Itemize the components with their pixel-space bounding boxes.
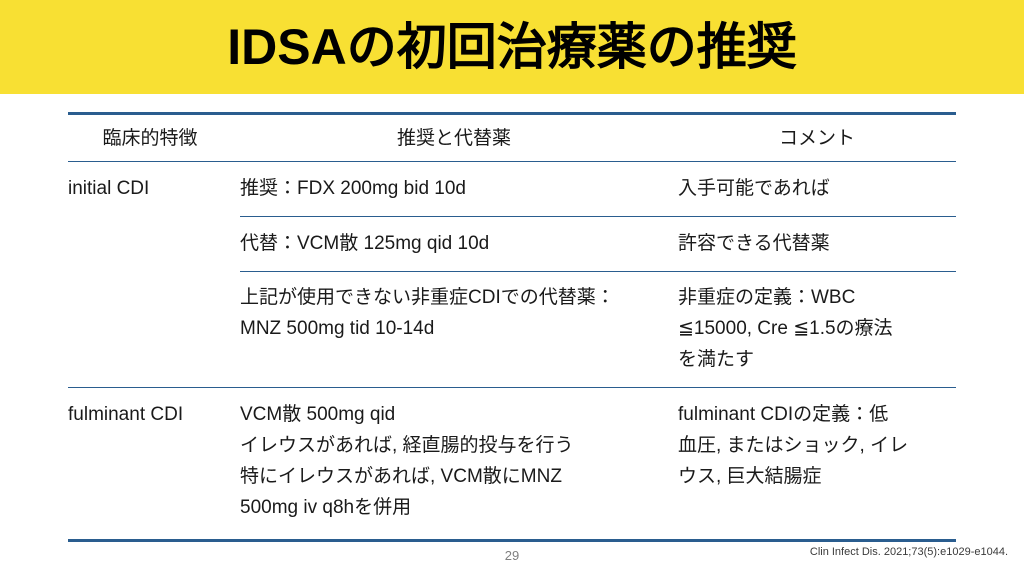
- comment-line: 血圧, またはショック, イレ: [678, 430, 956, 461]
- cell-clinical-feature: fulminant CDI: [68, 388, 240, 446]
- page-title: IDSAの初回治療薬の推奨: [0, 8, 1024, 86]
- comment-line: 許容できる代替薬: [678, 228, 956, 259]
- comment-line: ≦15000, Cre ≦1.5の療法: [678, 313, 956, 344]
- citation-reference: Clin Infect Dis. 2021;73(5):e1029-e1044.: [810, 546, 1008, 558]
- recommendation-line: 500mg iv q8hを併用: [240, 492, 668, 523]
- cell-recommendation: 上記が使用できない非重症CDIでの代替薬： MNZ 500mg tid 10-1…: [240, 272, 678, 356]
- table-bottom-rule: [68, 539, 956, 542]
- recommendation-table: 臨床的特徴 推奨と代替薬 コメント initial CDI 推奨：FDX 200…: [68, 112, 956, 542]
- column-header-clinical-feature: 臨床的特徴: [68, 115, 240, 161]
- table-header-row: 臨床的特徴 推奨と代替薬 コメント: [68, 115, 956, 161]
- cell-comment: fulminant CDIの定義：低 血圧, またはショック, イレ ウス, 巨…: [678, 388, 956, 508]
- cell-recommendation: VCM散 500mg qid イレウスがあれば, 経直腸的投与を行う 特にイレウ…: [240, 388, 678, 539]
- comment-line: を満たす: [678, 344, 956, 375]
- recommendation-line: イレウスがあれば, 経直腸的投与を行う: [240, 430, 668, 461]
- cell-clinical-feature: initial CDI: [68, 162, 240, 216]
- cell-comment: 非重症の定義：WBC ≦15000, Cre ≦1.5の療法 を満たす: [678, 272, 956, 387]
- table-row: initial CDI 推奨：FDX 200mg bid 10d 入手可能であれ…: [68, 162, 956, 216]
- cell-clinical-feature: [68, 272, 240, 294]
- cell-recommendation: 推奨：FDX 200mg bid 10d: [240, 162, 678, 216]
- cell-recommendation: 代替：VCM散 125mg qid 10d: [240, 217, 678, 271]
- recommendation-line: MNZ 500mg tid 10-14d: [240, 313, 668, 344]
- recommendation-line: 特にイレウスがあれば, VCM散にMNZ: [240, 461, 668, 492]
- recommendation-line: VCM散 500mg qid: [240, 399, 668, 430]
- recommendation-line: 代替：VCM散 125mg qid 10d: [240, 228, 668, 259]
- cell-clinical-feature: [68, 217, 240, 240]
- comment-line: 非重症の定義：WBC: [678, 282, 956, 313]
- table-row: 上記が使用できない非重症CDIでの代替薬： MNZ 500mg tid 10-1…: [68, 272, 956, 387]
- column-header-comment: コメント: [678, 115, 956, 161]
- cell-comment: 入手可能であれば: [678, 162, 956, 216]
- recommendation-line: 推奨：FDX 200mg bid 10d: [240, 173, 668, 204]
- slide: IDSAの初回治療薬の推奨 臨床的特徴 推奨と代替薬 コメント initial …: [0, 0, 1024, 576]
- comment-line: fulminant CDIの定義：低: [678, 399, 956, 430]
- comment-line: 入手可能であれば: [678, 173, 956, 204]
- recommendation-line: 上記が使用できない非重症CDIでの代替薬：: [240, 282, 668, 313]
- table-row: 代替：VCM散 125mg qid 10d 許容できる代替薬: [68, 217, 956, 271]
- table-row: fulminant CDI VCM散 500mg qid イレウスがあれば, 経…: [68, 388, 956, 539]
- column-header-recommendation: 推奨と代替薬: [240, 115, 678, 161]
- comment-line: ウス, 巨大結腸症: [678, 461, 956, 492]
- cell-comment: 許容できる代替薬: [678, 217, 956, 271]
